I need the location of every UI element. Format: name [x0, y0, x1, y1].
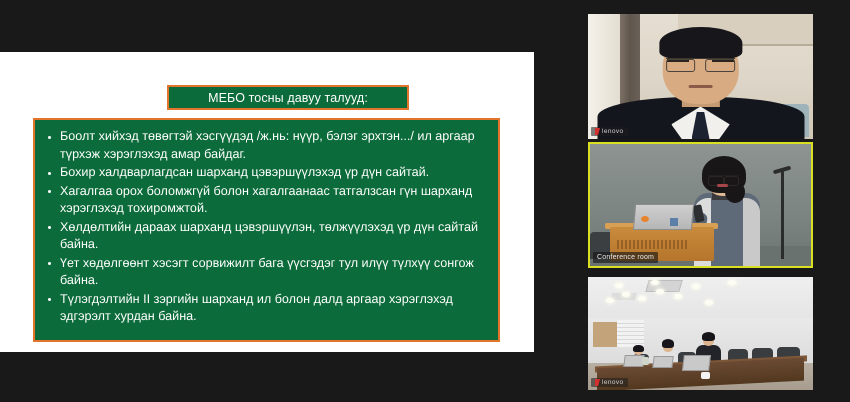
watermark-label: lenovo [602, 379, 624, 386]
slide-bullet-item: Түлэгдэлтийн II зэргийн шарханд ил болон… [43, 291, 488, 326]
participant-video-strip[interactable]: lenovo [580, 0, 850, 402]
lenovo-watermark-icon: lenovo [591, 127, 628, 136]
participant-name-badge-2: Conference room [593, 252, 658, 264]
lenovo-mark-icon [595, 128, 600, 135]
slide-bullet-item: Хагалгаа орох боломжгүй болон хагалгаана… [43, 183, 488, 218]
lenovo-watermark-icon: lenovo [591, 378, 628, 387]
video-conference-screen: МЕБО тосны давуу талууд: Боолт хийхэд тө… [0, 0, 850, 402]
slide-bullet-item: Хөлдөлтийн дараах шарханд цэвэршүүлэн, т… [43, 219, 488, 254]
video-feed-3 [588, 277, 813, 390]
video-feed-1 [588, 14, 813, 139]
slide-bullet-list: Боолт хийхэд төвөгтэй хэсгүүдэд /ж.нь: н… [43, 128, 488, 326]
watermark-label: lenovo [602, 128, 624, 135]
slide-title: МЕБО тосны давуу талууд: [208, 91, 368, 105]
video-feed-2 [590, 144, 811, 266]
participant-tile-2[interactable]: Conference room [588, 142, 813, 268]
slide-title-box: МЕБО тосны давуу талууд: [167, 85, 409, 110]
shared-screen-region[interactable]: МЕБО тосны давуу талууд: Боолт хийхэд тө… [0, 0, 580, 402]
slide-bullet-item: Бохир халдварлагдсан шарханд цэвэршүүлэх… [43, 164, 488, 182]
participant-tile-3[interactable]: lenovo [588, 277, 813, 390]
slide-body-box: Боолт хийхэд төвөгтэй хэсгүүдэд /ж.нь: н… [33, 118, 500, 342]
slide-bullet-item: Үет хөдөлгөөнт хэсэгт сорвижилт бага үүс… [43, 255, 488, 290]
lenovo-mark-icon [595, 379, 600, 386]
participant-tile-1[interactable]: lenovo [588, 14, 813, 139]
slide-bullet-item: Боолт хийхэд төвөгтэй хэсгүүдэд /ж.нь: н… [43, 128, 488, 163]
presentation-slide[interactable]: МЕБО тосны давуу талууд: Боолт хийхэд тө… [0, 52, 534, 352]
